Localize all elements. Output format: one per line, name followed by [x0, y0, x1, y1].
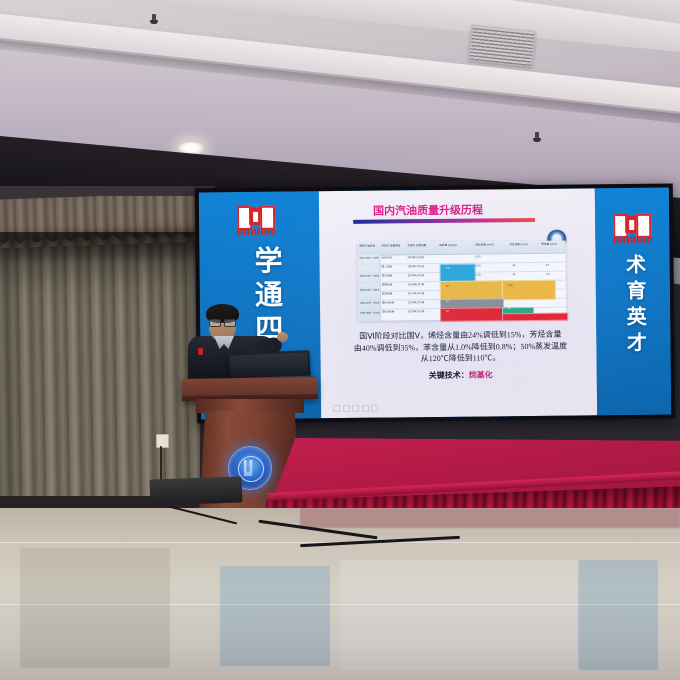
crest-monogram: [242, 460, 258, 476]
presentation-slide: 国内汽油质量升级历程 国家汽油标准 对应的 质量等级 实施的 实施日期 硫含量 …: [319, 188, 597, 418]
td-standard-1: GB17930—1999: [360, 258, 379, 261]
logo-right-right-bracket: [636, 214, 651, 238]
td-olefin-3: 0.35: [476, 275, 481, 278]
td-standard-2: GB17930—2006: [360, 276, 379, 279]
calligraphy-right: 术育英才: [619, 254, 649, 394]
sprinkler-head-3: [535, 132, 539, 141]
td-grade-5: 国五标准: [382, 293, 392, 296]
td-olefin-2: 0.35: [476, 266, 481, 269]
th-date: 实施的 实施日期: [407, 245, 433, 248]
floor-reflection-stage: [300, 508, 680, 528]
air-vent-grille: [468, 25, 535, 67]
td-date-3: 2010年1月1日: [408, 275, 424, 278]
logo-wordmark: [237, 229, 275, 235]
key-tech-value: 烷基化: [469, 370, 493, 379]
td-sulfur-cyan: 150: [446, 268, 450, 271]
td-olefin-amber: 0.30: [508, 285, 513, 288]
td-grade-2: 国二标准: [382, 266, 392, 269]
td-standard-5: GB17930—2016: [360, 313, 379, 316]
td-sulfur-amber: 50: [446, 286, 449, 289]
glasses-left-lens: [209, 319, 221, 327]
block-red-left: [440, 307, 504, 322]
block-amber-right: [502, 280, 556, 301]
floor-reflection-right-panel: [578, 560, 658, 670]
table-header-row: [357, 241, 565, 256]
speaker-hand: [277, 332, 288, 342]
td-benzene-2: 2.5: [546, 265, 550, 268]
td-standard-3: GB17930—2013: [360, 290, 379, 293]
logo-right-wordmark: [613, 237, 651, 243]
ppt-sorter-view-icon[interactable]: [343, 405, 350, 412]
speaker-glasses: [209, 319, 236, 325]
screen-right-panel: 术育英才: [595, 188, 671, 416]
td-date-2: 2005年7月1日: [408, 266, 424, 269]
stage-curtain: [0, 196, 200, 496]
td-standard-4: GB17930—2016: [360, 303, 379, 306]
td-date-1: 2000年1月1日: [408, 257, 424, 260]
td-grade-3: 国三标准: [382, 275, 392, 278]
key-tech-label: 关键技术：: [429, 370, 469, 379]
td-date-7: 2023年1月1日: [408, 311, 424, 314]
td-date-4: 2014年1月1日: [408, 284, 424, 287]
th-aromatic: 芳烃含量 (v/v%): [509, 244, 535, 247]
ppt-slideshow-icon[interactable]: [362, 405, 369, 412]
th-benzene: 苯含量 (v/v%): [541, 244, 563, 247]
td-aromatic-green: 35: [508, 308, 511, 311]
wall-power-outlet: [156, 434, 169, 448]
td-grade-7: 国六B标准: [382, 311, 394, 314]
lecture-hall-photo: 学通四 国内汽油质量升级历程 国家汽油标准 对应的 质量等级 实施的 实施日期 …: [0, 0, 680, 680]
ppt-view-toolbar[interactable]: [333, 405, 378, 412]
lectern-neck: [196, 399, 304, 413]
td-grade-4: 国四标准: [382, 284, 392, 287]
block-red-right: [502, 313, 568, 322]
hi-brand-logo-right: [613, 214, 651, 242]
td-sulfur-gray: 10: [446, 301, 449, 304]
equipment-riser: [150, 476, 243, 505]
floor-reflection-slide: [340, 560, 580, 670]
sprinkler-head-1: [152, 14, 156, 23]
th-olefin: 烯烃含量 (v/v%): [475, 244, 501, 247]
ppt-normal-view-icon[interactable]: [333, 405, 340, 412]
td-grade-6: 国六A标准: [382, 302, 394, 305]
speaker-lapel-badge: [198, 348, 203, 355]
td-grade-1: 无铅汽油: [382, 257, 392, 260]
th-standard: 国家汽油标准: [359, 246, 379, 249]
ppt-reading-view-icon[interactable]: [352, 405, 359, 412]
td-aromatic-3: 40: [513, 274, 516, 277]
logo-right-bracket: [260, 206, 275, 230]
td-olefin-1: 0.35: [476, 257, 481, 260]
slide-body-line-3: 从120℃降低到110℃。: [339, 352, 583, 366]
td-benzene-3: 1.0: [546, 274, 550, 277]
lectern-top: [182, 377, 318, 401]
td-date-6: 2019年1月1日: [408, 302, 424, 305]
glasses-right-lens: [224, 319, 236, 327]
curtain-top-shadow: [0, 232, 200, 264]
th-grade: 对应的 质量等级: [381, 245, 403, 248]
slide-title: 国内汽油质量升级历程: [373, 201, 483, 218]
title-underline-bar: [353, 218, 535, 224]
floor-cable-3: [169, 506, 237, 525]
ppt-zoom-icon[interactable]: [371, 405, 378, 412]
floor: [0, 508, 680, 680]
hi-brand-logo-left: [237, 206, 275, 234]
floor-reflection-curtain: [20, 548, 170, 668]
td-benzene-1: —: [546, 256, 549, 259]
td-date-5: 2017年1月1日: [408, 293, 424, 296]
curtain-drape: [0, 234, 200, 496]
gasoline-standards-table: 国家汽油标准 对应的 质量等级 实施的 实施日期 硫含量 (mg/kg) 烯烃含…: [357, 241, 566, 321]
wall-cable: [160, 446, 162, 482]
td-aromatic-2: 40: [513, 265, 516, 268]
th-sulfur: 硫含量 (mg/kg): [439, 245, 465, 248]
td-sulfur-red: 10: [446, 311, 449, 314]
floor-reflection-left-panel: [220, 566, 330, 666]
